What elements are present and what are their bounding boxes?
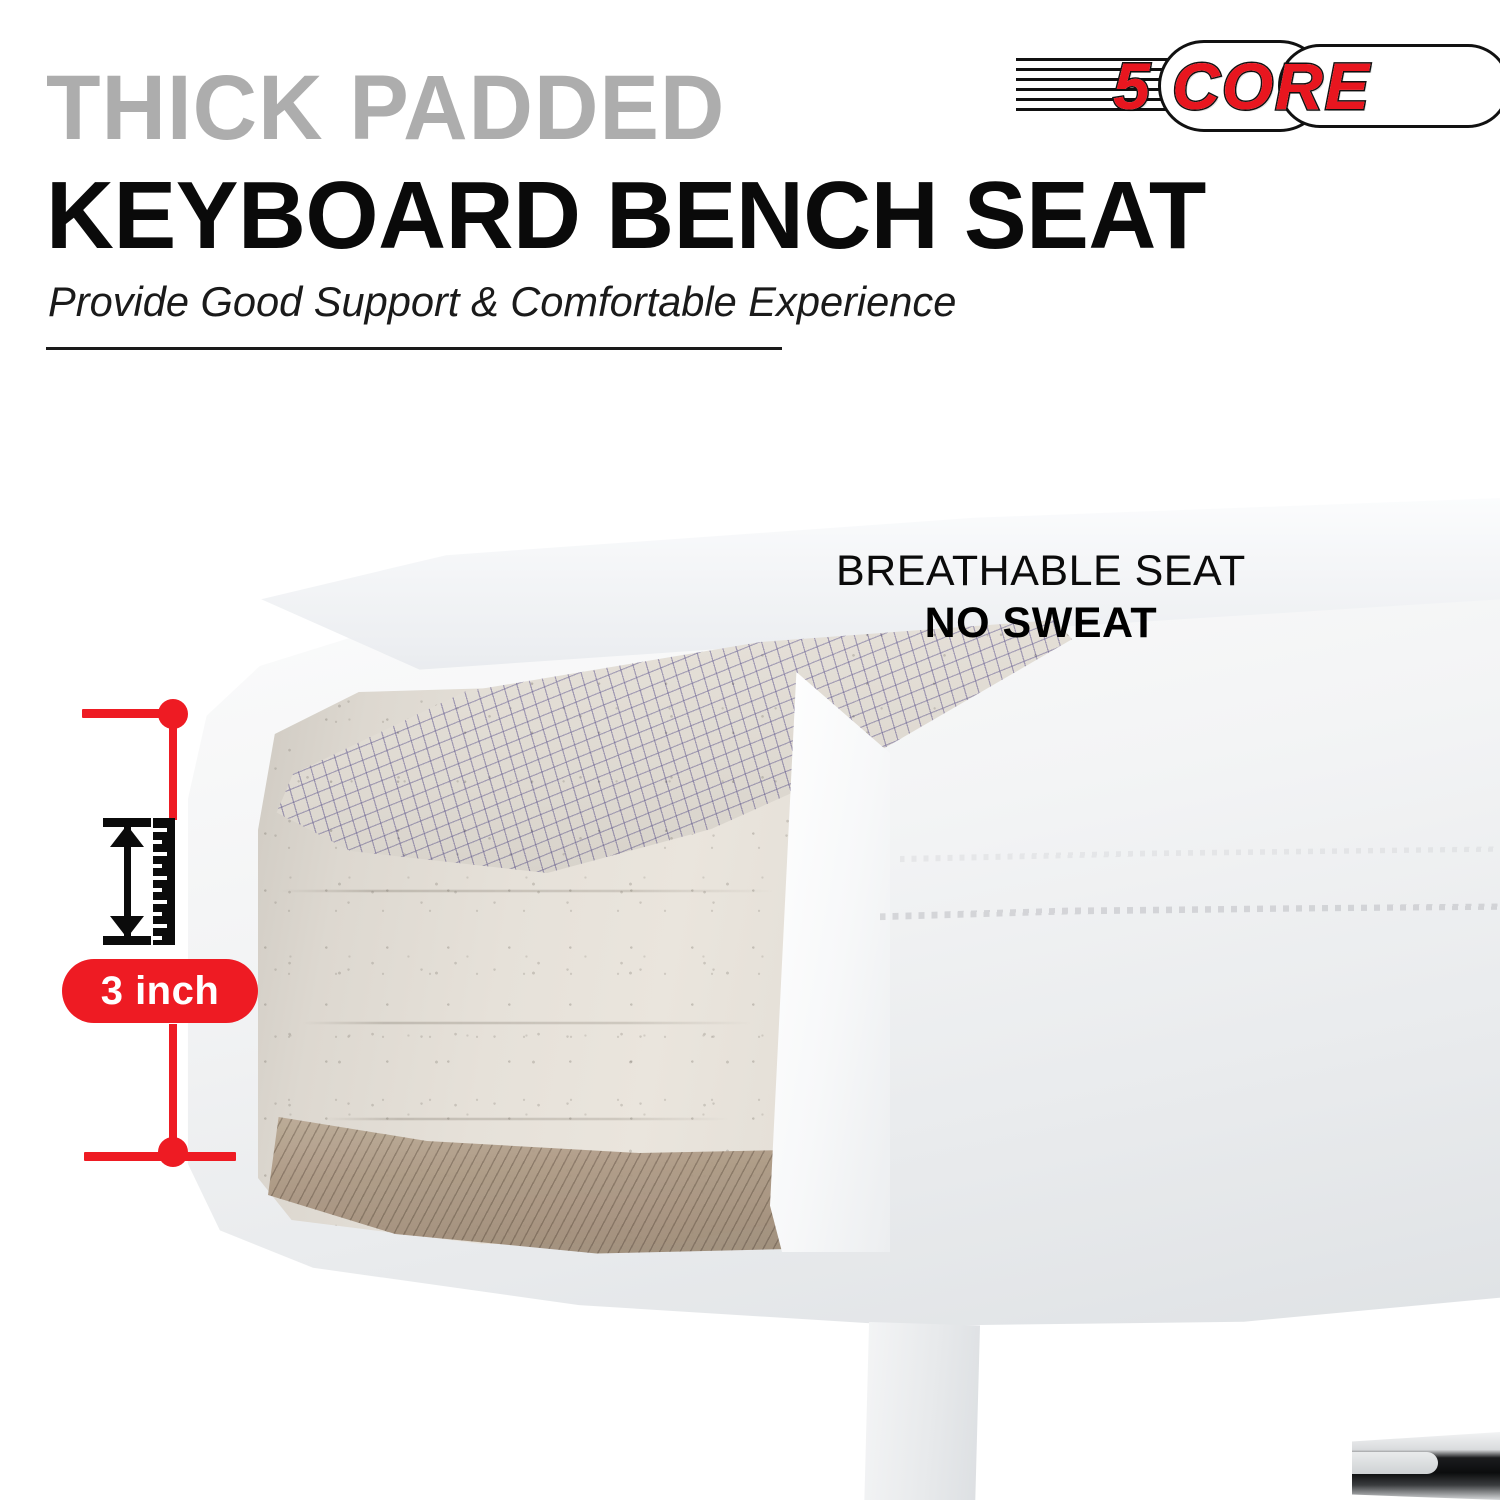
foam-layer-seam	[303, 1022, 751, 1024]
measure-bottom-guide-line	[84, 1152, 236, 1161]
logo-wordmark: 5 CORE	[1020, 38, 1464, 134]
bench-leg	[862, 1322, 980, 1500]
thickness-measurement-callout: 3 inch	[0, 0, 300, 1500]
breathable-seat-line2: NO SWEAT	[836, 600, 1246, 646]
ruler-scale-bar	[153, 818, 175, 945]
measure-vertical-line-bottom	[169, 1024, 177, 1146]
ruler-icon	[103, 818, 175, 945]
metal-frame-tube-end	[1352, 1452, 1438, 1474]
breathable-seat-annotation: BREATHABLE SEAT NO SWEAT	[836, 548, 1246, 647]
foam-layer-seam	[280, 890, 773, 892]
breathable-seat-line1: BREATHABLE SEAT	[836, 548, 1246, 594]
ruler-arrow-up	[110, 825, 144, 847]
ruler-arrow-down	[110, 916, 144, 938]
five-core-logo: 5 CORE	[1016, 38, 1460, 134]
measure-vertical-line-top	[169, 716, 177, 820]
foam-layer-seam	[325, 1118, 728, 1120]
thickness-badge: 3 inch	[62, 959, 258, 1023]
thickness-badge-label: 3 inch	[101, 971, 220, 1011]
